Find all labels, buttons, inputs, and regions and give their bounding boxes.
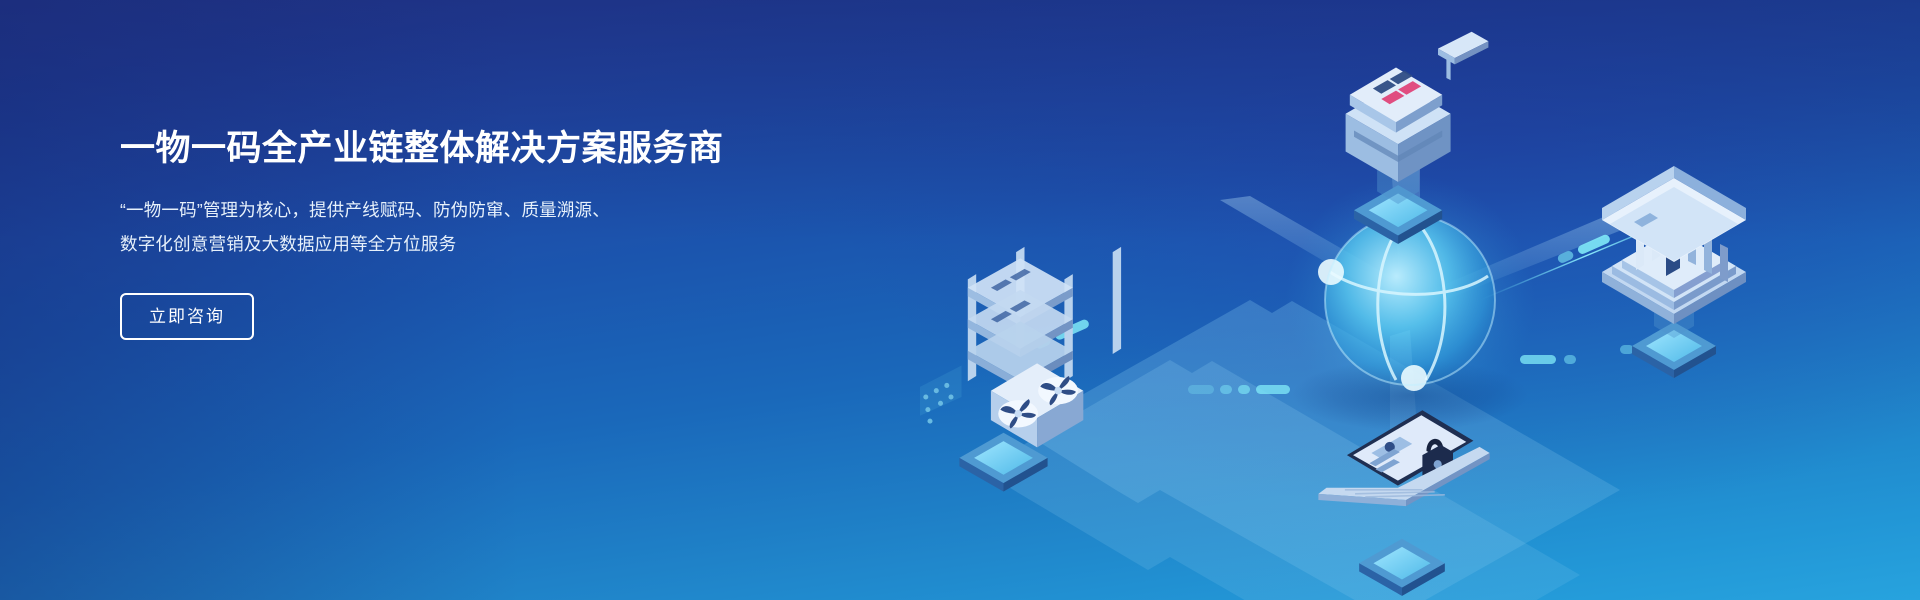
connector-beams bbox=[1220, 150, 1642, 470]
server-rack-icon bbox=[920, 247, 1121, 492]
hero-subcopy: “一物一码”管理为核心，提供产线赋码、防伪防窜、质量溯源、 数字化创意营销及大数… bbox=[120, 193, 820, 261]
hero-copy: 一物一码全产业链整体解决方案服务商 “一物一码”管理为核心，提供产线赋码、防伪防… bbox=[120, 128, 820, 340]
subcopy-line-2: 数字化创意营销及大数据应用等全方位服务 bbox=[120, 227, 820, 261]
hero-banner: 一物一码全产业链整体解决方案服务商 “一物一码”管理为核心，提供产线赋码、防伪防… bbox=[0, 0, 1920, 600]
laptop-security-icon bbox=[1318, 410, 1489, 596]
page-title: 一物一码全产业链整体解决方案服务商 bbox=[120, 128, 820, 171]
subcopy-line-1: “一物一码”管理为核心，提供产线赋码、防伪防窜、质量溯源、 bbox=[120, 193, 820, 227]
bank-building-icon bbox=[1602, 166, 1746, 378]
pos-terminal-icon bbox=[1346, 32, 1489, 244]
ground-plate bbox=[980, 300, 1620, 600]
consult-now-button[interactable]: 立即咨询 bbox=[120, 293, 254, 340]
data-links bbox=[1034, 200, 1780, 394]
isometric-network-illustration bbox=[920, 0, 1920, 600]
network-globe-icon bbox=[1285, 175, 1535, 431]
